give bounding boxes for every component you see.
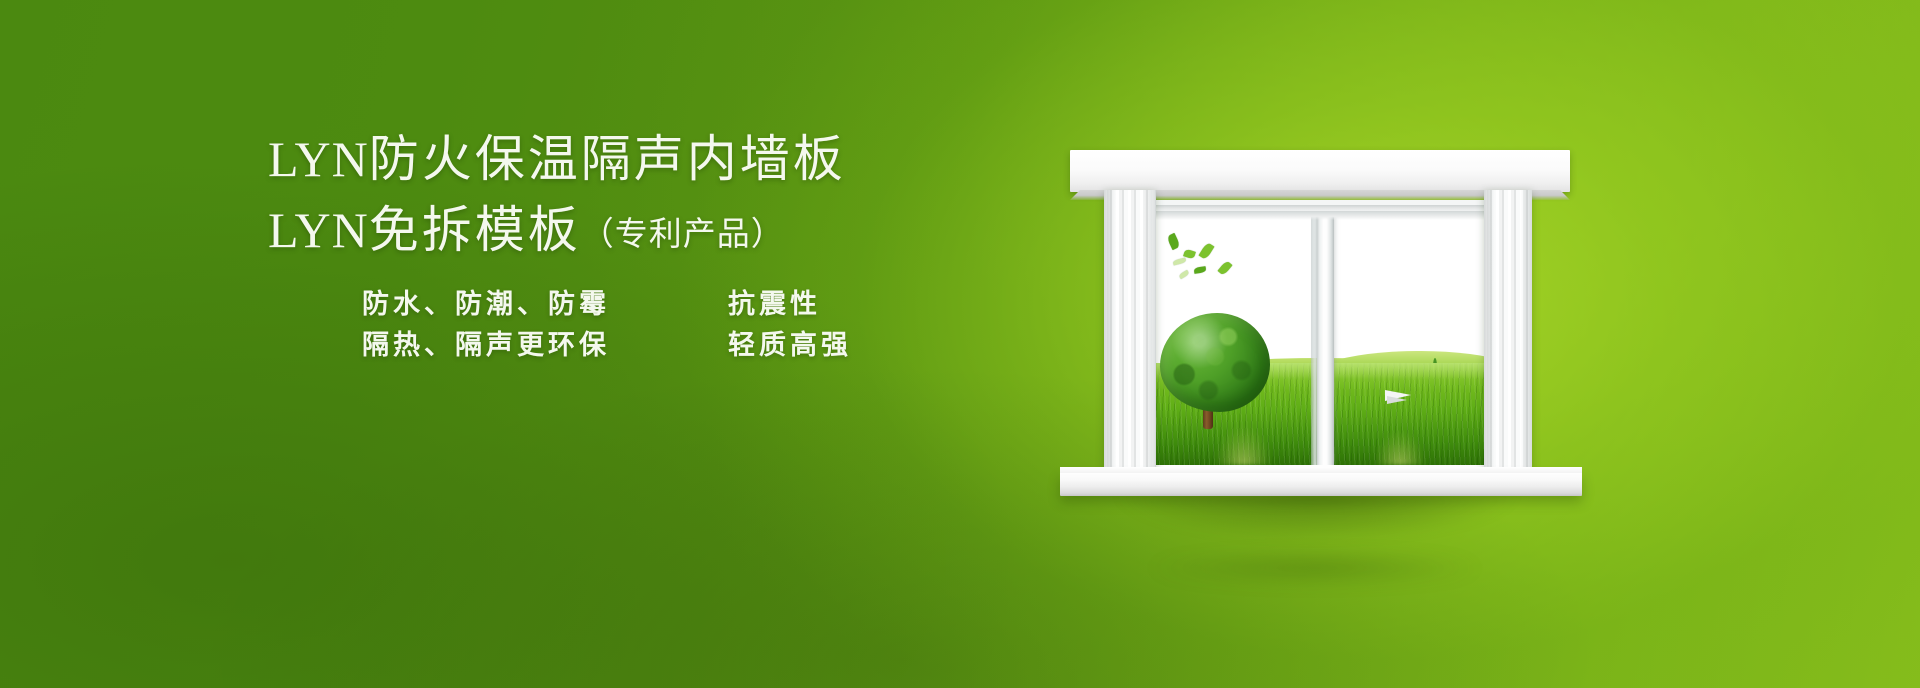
feature-item: 抗震性 — [728, 284, 852, 325]
curtain-right — [1484, 190, 1532, 482]
headline-line-1: LYN防火保温隔声内墙板 — [268, 128, 988, 191]
window-drop-shadow-secondary — [1090, 548, 1540, 588]
feature-item: 防水、防潮、防霉 — [362, 284, 610, 325]
feature-item: 隔热、隔声更环保 — [362, 325, 610, 366]
window-illustration — [1056, 150, 1596, 510]
curtain-valance — [1070, 150, 1570, 192]
feature-column-left: 防水、防潮、防霉 隔热、隔声更环保 — [362, 284, 610, 366]
paper-plane-wing-lower — [1387, 396, 1407, 404]
feature-item: 轻质高强 — [728, 325, 852, 366]
headline-patent-note: （专利产品） — [581, 217, 785, 253]
feature-column-right: 抗震性 轻质高强 — [728, 284, 852, 366]
headline-line-1-han: 防火保温隔声内墙板 — [369, 130, 846, 188]
grass-path — [1213, 409, 1274, 465]
headline-line-2-latin: LYN — [268, 202, 369, 258]
paper-plane-icon — [1385, 390, 1415, 406]
headline-line-2: LYN免拆模板（专利产品） — [268, 199, 988, 262]
window-sill — [1060, 472, 1582, 496]
feature-list: 防水、防潮、防霉 隔热、隔声更环保 抗震性 轻质高强 — [362, 284, 988, 366]
tree-crown — [1160, 313, 1271, 412]
window-frame — [1118, 200, 1522, 476]
headline-line-1-latin: LYN — [268, 131, 369, 187]
window-mullion — [1317, 211, 1334, 465]
promo-banner: LYN防火保温隔声内墙板 LYN免拆模板（专利产品） 防水、防潮、防霉 隔热、隔… — [0, 0, 1920, 688]
headline-block: LYN防火保温隔声内墙板 LYN免拆模板（专利产品） 防水、防潮、防霉 隔热、隔… — [268, 128, 988, 366]
window-glass — [1129, 211, 1511, 465]
curtain-left — [1104, 190, 1156, 482]
headline-line-2-han: 免拆模板 — [369, 201, 581, 259]
window-frame-top-shade — [1129, 211, 1511, 220]
grass-path — [1373, 416, 1426, 465]
